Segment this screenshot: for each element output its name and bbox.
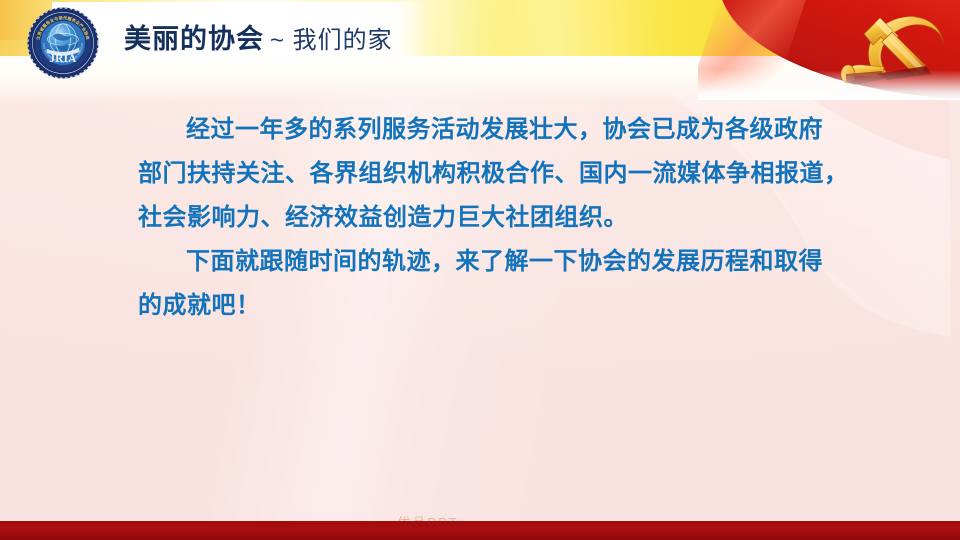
slide-header: JRIA 江苏省服务业与现代服务业产业协会 JIANGSU MODERN SER… <box>0 0 960 96</box>
title-main-text: 美丽的协会 <box>124 17 264 56</box>
presentation-slide: JRIA 江苏省服务业与现代服务业产业协会 JIANGSU MODERN SER… <box>0 0 960 540</box>
paragraph-line: 的成就吧！ <box>138 284 868 328</box>
footer-bar <box>0 521 960 540</box>
paragraph-line: 部门扶持关注、各界组织机构积极合作、国内一流媒体争相报道， <box>138 152 868 196</box>
paragraph-line: 经过一年多的系列服务活动发展壮大，协会已成为各级政府 <box>138 108 868 152</box>
slide-title: 美丽的协会 ~ 我们的家 <box>124 17 393 53</box>
flag-bottom-fade <box>698 70 960 100</box>
paragraph-line: 社会影响力、经济效益创造力巨大社团组织。 <box>138 196 868 240</box>
title-sub-text: ~ 我们的家 <box>270 20 393 55</box>
association-logo-icon: JRIA 江苏省服务业与现代服务业产业协会 JIANGSU MODERN SER… <box>26 6 100 80</box>
paragraph-line: 下面就跟随时间的轨迹，来了解一下协会的发展历程和取得 <box>138 240 868 284</box>
body-copy: 经过一年多的系列服务活动发展壮大，协会已成为各级政府 部门扶持关注、各界组织机构… <box>138 108 868 328</box>
party-flag-decoration <box>698 0 960 100</box>
